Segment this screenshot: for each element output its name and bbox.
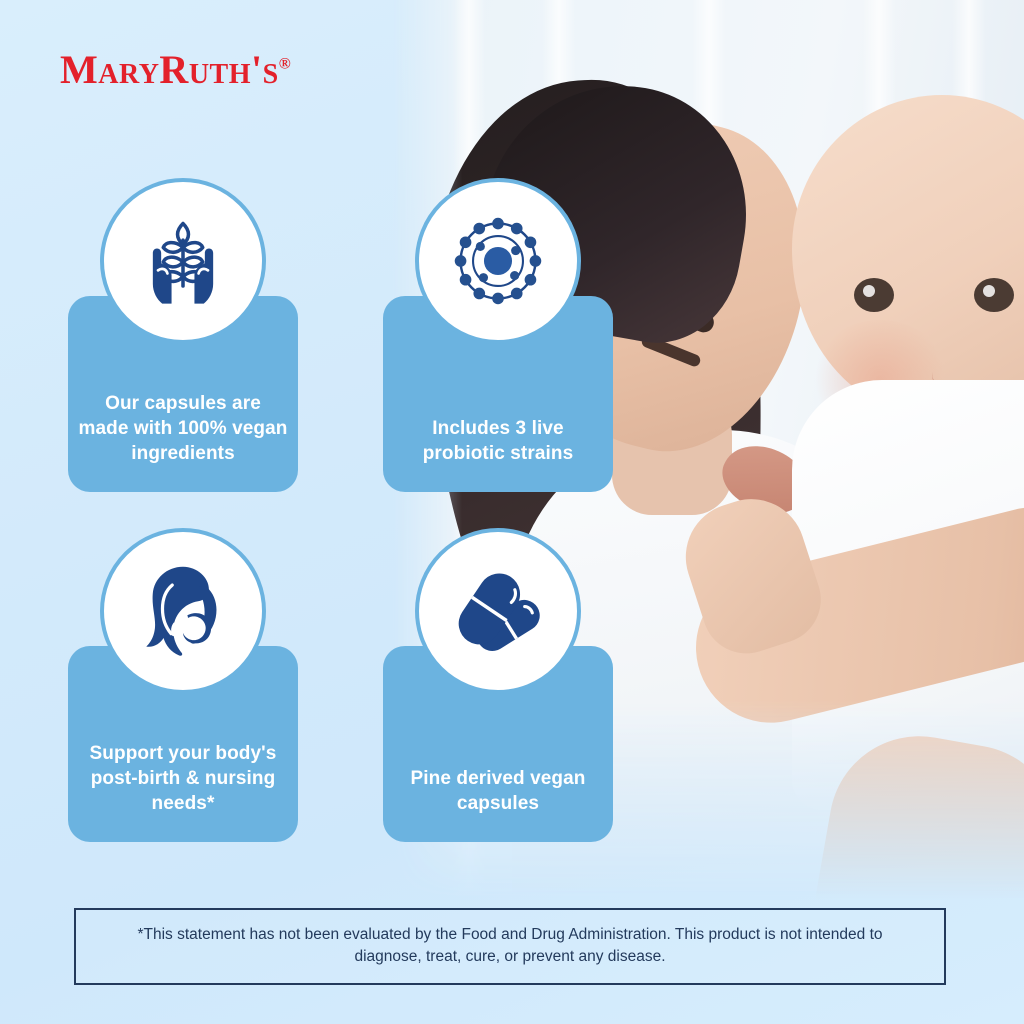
benefit-card-text: Pine derived vegan capsules: [393, 766, 603, 816]
product-benefits-infographic: MaryRuth's® Our capsules are made with 1…: [0, 0, 1024, 1024]
mother-and-baby-icon: [100, 528, 266, 694]
probiotic-cell-icon: [415, 178, 581, 344]
benefit-card-text: Our capsules are made with 100% vegan in…: [78, 391, 288, 466]
brand-logo-text: MaryRuth's: [60, 47, 279, 92]
fda-disclaimer: *This statement has not been evaluated b…: [74, 908, 946, 985]
brand-logo: MaryRuth's®: [60, 46, 291, 93]
benefit-card-text: Includes 3 live probiotic strains: [393, 416, 603, 466]
capsules-icon: [415, 528, 581, 694]
registered-trademark-icon: ®: [279, 56, 291, 73]
hands-holding-plant-icon: [100, 178, 266, 344]
baby-eye: [854, 278, 894, 312]
baby-eye: [974, 278, 1014, 312]
benefit-card-text: Support your body's post-birth & nursing…: [78, 741, 288, 816]
lifestyle-photo: [392, 0, 1024, 1024]
